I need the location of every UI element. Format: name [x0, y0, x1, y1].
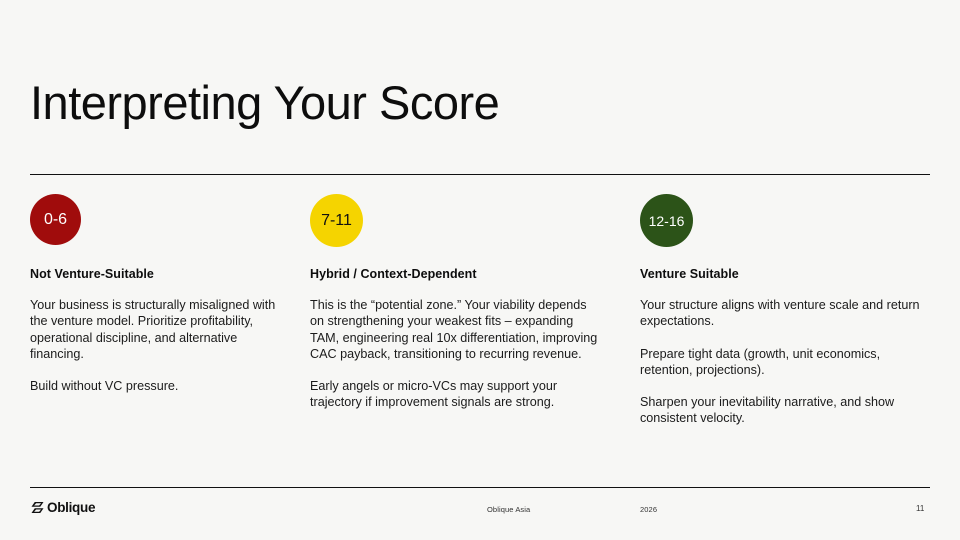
- oblique-logo-icon: [30, 501, 45, 514]
- score-band-column-2: 12-16 Venture Suitable Your structure al…: [640, 194, 930, 427]
- score-bands: 0-6 Not Venture-Suitable Your business i…: [0, 194, 960, 444]
- score-badge-label-0: 0-6: [44, 212, 67, 228]
- footer-year: 2026: [640, 505, 657, 514]
- score-band-paragraph-2-2: Sharpen your inevitability narrative, an…: [640, 394, 930, 427]
- score-badge-1: 7-11: [310, 194, 363, 247]
- score-band-heading-1: Hybrid / Context-Dependent: [310, 266, 600, 282]
- score-band-heading-0: Not Venture-Suitable: [30, 266, 280, 282]
- brand-logo: Oblique: [30, 500, 95, 515]
- score-band-column-0: 0-6 Not Venture-Suitable Your business i…: [30, 194, 280, 394]
- slide-footer: Oblique Oblique Asia 2026 11: [0, 487, 960, 540]
- score-badge-2: 12-16: [640, 194, 693, 247]
- score-band-paragraph-1-0: This is the “potential zone.” Your viabi…: [310, 297, 600, 362]
- score-badge-label-2: 12-16: [649, 214, 685, 228]
- footer-center-text: Oblique Asia: [487, 505, 530, 514]
- slide: Interpreting Your Score 0-6 Not Venture-…: [0, 0, 960, 540]
- score-badge-label-1: 7-11: [321, 213, 352, 229]
- score-badge-0: 0-6: [30, 194, 81, 245]
- score-band-paragraph-1-1: Early angels or micro-VCs may support yo…: [310, 378, 600, 411]
- page-title: Interpreting Your Score: [30, 74, 499, 132]
- score-band-paragraph-2-1: Prepare tight data (growth, unit economi…: [640, 346, 930, 379]
- score-band-paragraph-0-0: Your business is structurally misaligned…: [30, 297, 280, 362]
- score-band-paragraph-2-0: Your structure aligns with venture scale…: [640, 297, 930, 330]
- score-band-heading-2: Venture Suitable: [640, 266, 930, 282]
- brand-logo-text: Oblique: [47, 500, 95, 515]
- score-band-column-1: 7-11 Hybrid / Context-Dependent This is …: [310, 194, 600, 411]
- footer-page-number: 11: [916, 504, 924, 513]
- title-divider: [30, 174, 930, 175]
- score-band-paragraph-0-1: Build without VC pressure.: [30, 378, 280, 394]
